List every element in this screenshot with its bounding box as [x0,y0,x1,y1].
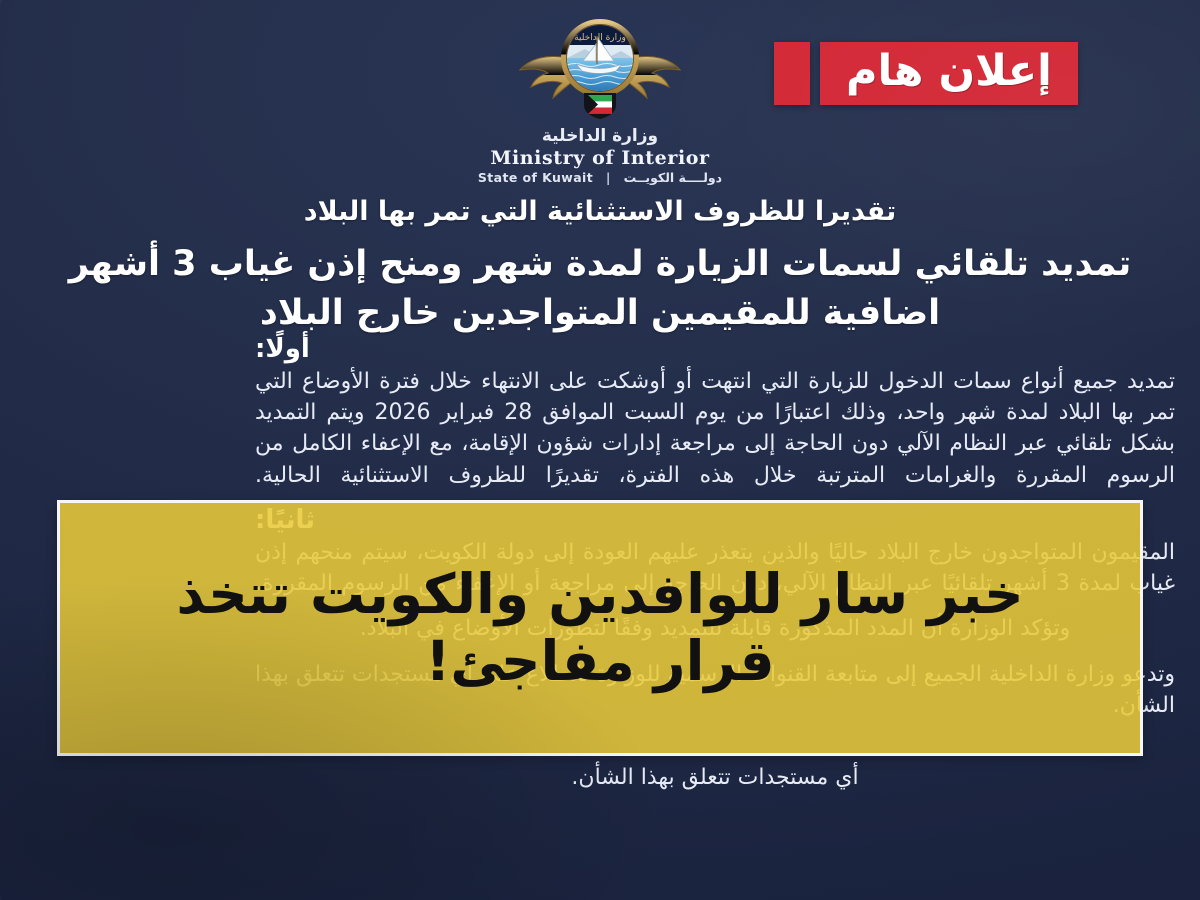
section-one-paragraph: تمديد جميع أنواع سمات الدخول للزيارة الت… [255,366,1175,491]
ministry-name-arabic: وزارة الداخلية [478,126,722,147]
headline-kicker: تقديرا للظروف الاستثنائية التي تمر بها ا… [22,196,1178,228]
overlay-headline: خبر سار للوافدين والكويت تتخذ قرار مفاجئ… [150,561,1049,695]
announcement-poster: إعلان هام [0,0,1200,900]
tail-text-block: أي مستجدات تتعلق بهذا الشأن. [255,762,1175,793]
poster-header: إعلان هام [0,0,1200,190]
overlay-headline-line-2: قرار مفاجئ! [176,628,1023,695]
ministry-name-english: Ministry of Interior [478,147,722,170]
state-name-line: State of Kuwait | دولــــة الكويــت [478,170,722,185]
state-name-arabic: دولــــة الكويــت [624,170,722,185]
kuwait-moi-emblem-icon: وزارة الداخلية [512,18,688,122]
state-name-separator: | [598,170,619,185]
tail-text: أي مستجدات تتعلق بهذا الشأن. [255,762,1175,793]
ministry-wordmark: وزارة الداخلية Ministry of Interior Stat… [478,126,722,185]
ministry-identity: وزارة الداخلية [0,18,1200,185]
headline-block: تقديرا للظروف الاستثنائية التي تمر بها ا… [22,196,1178,338]
section-one-label: أولًا: [255,334,1175,364]
state-name-english: State of Kuwait [478,170,593,185]
yellow-headline-overlay: خبر سار للوافدين والكويت تتخذ قرار مفاجئ… [57,500,1143,756]
headline-main: تمديد تلقائي لسمات الزيارة لمدة شهر ومنح… [22,240,1178,338]
overlay-headline-line-1: خبر سار للوافدين والكويت تتخذ [176,561,1023,628]
